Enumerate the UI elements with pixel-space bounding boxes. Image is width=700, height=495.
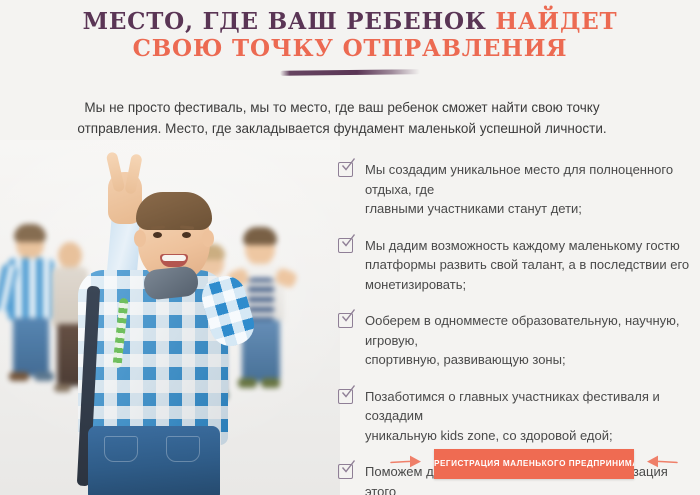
child-teeth <box>162 255 186 261</box>
register-button[interactable]: Регистрация маленького предпринимателя <box>434 449 634 479</box>
foreground-child <box>52 158 242 495</box>
list-item-label: Мы создадим уникальное место для полноце… <box>365 160 700 219</box>
title-line-2: СВОЮ ТОЧКУ ОТПРАВЛЕНИЯ <box>0 35 700 62</box>
child-ear-left <box>134 230 146 247</box>
checkbox-checked-icon <box>338 389 353 404</box>
jeans-pocket-left <box>104 436 138 462</box>
title-line-1: МЕСТО, ГДЕ ВАШ РЕБЕНОК НАЙДЕТ <box>0 8 700 35</box>
child-hair <box>136 192 212 230</box>
title-underline-stroke <box>280 69 420 75</box>
list-item: Мы дадим возможность каждому маленькому … <box>338 236 700 295</box>
cta-row: Регистрация маленького предпринимателя <box>390 446 700 482</box>
list-item-label: Ооберем в одномместе образовательную, на… <box>365 311 700 370</box>
list-item: Позаботимся о главных участниках фестива… <box>338 387 700 446</box>
child-eye-left <box>153 232 162 238</box>
benefits-list: Мы создадим уникальное место для полноце… <box>338 160 700 495</box>
child-ear-right <box>202 230 214 247</box>
child-jeans <box>88 426 220 495</box>
title-line-1-accent: НАЙДЕТ <box>495 8 617 35</box>
title-line-1-primary: МЕСТО, ГДЕ ВАШ РЕБЕНОК <box>83 8 496 35</box>
page-title: МЕСТО, ГДЕ ВАШ РЕБЕНОК НАЙДЕТ СВОЮ ТОЧКУ… <box>0 8 700 62</box>
checkbox-checked-icon <box>338 238 353 253</box>
landing-section: МЕСТО, ГДЕ ВАШ РЕБЕНОК НАЙДЕТ СВОЮ ТОЧКУ… <box>0 0 700 495</box>
checkbox-checked-icon <box>338 464 353 479</box>
checkbox-checked-icon <box>338 313 353 328</box>
list-item-label: Позаботимся о главных участниках фестива… <box>365 387 700 446</box>
children-photo <box>0 140 340 495</box>
child-smile <box>160 254 188 267</box>
list-item-label: Мы дадим возможность каждому маленькому … <box>365 236 689 295</box>
intro-paragraph: Мы не просто фестиваль, мы то место, где… <box>62 97 622 139</box>
checkbox-checked-icon <box>338 162 353 177</box>
arrow-left-icon <box>642 453 678 476</box>
jeans-pocket-right <box>166 436 200 462</box>
list-item: Мы создадим уникальное место для полноце… <box>338 160 700 219</box>
child-eye-right <box>182 232 191 238</box>
list-item: Ооберем в одномместе образовательную, на… <box>338 311 700 370</box>
arrow-right-icon <box>390 453 426 476</box>
